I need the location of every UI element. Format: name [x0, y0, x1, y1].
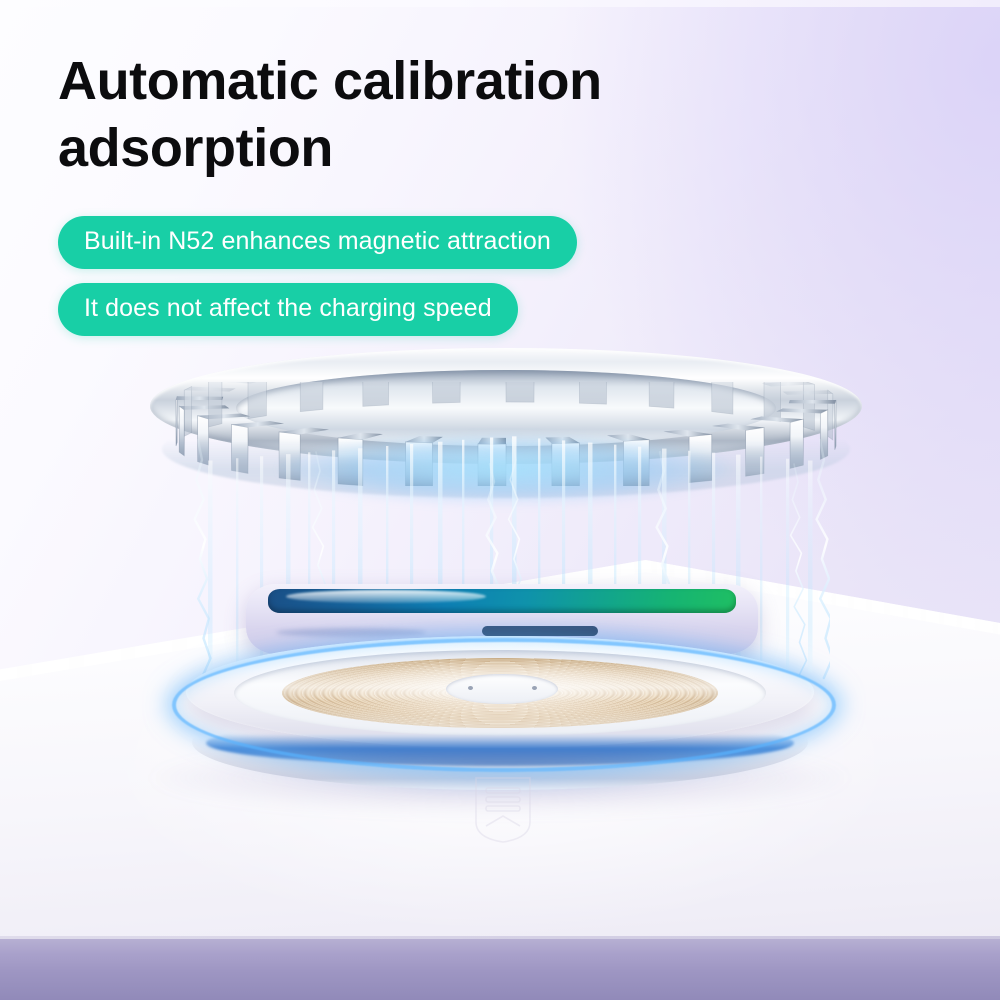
feature-pill-magnetic-attraction: Built-in N52 enhances magnetic attractio… — [58, 216, 577, 269]
page-title: Automatic calibration adsorption — [58, 48, 818, 182]
feature-pill-list: Built-in N52 enhances magnetic attractio… — [58, 216, 577, 336]
headline-line-2: adsorption — [58, 115, 818, 182]
table-front-edge — [0, 936, 1000, 1000]
feature-pill-charging-speed: It does not affect the charging speed — [58, 283, 518, 336]
background-top-strip — [0, 0, 1000, 7]
product-banner: Automatic calibration adsorption Built-i… — [0, 0, 1000, 1000]
headline-line-1: Automatic calibration — [58, 48, 818, 115]
